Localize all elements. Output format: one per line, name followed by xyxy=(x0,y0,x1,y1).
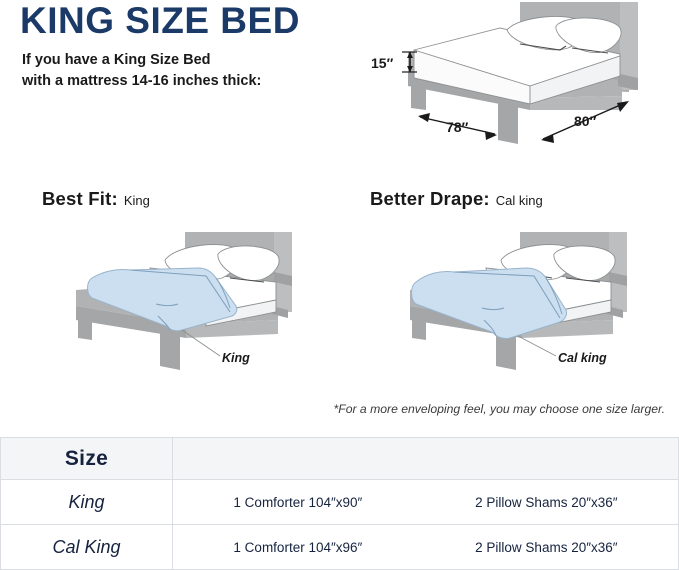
table-header-row: Size xyxy=(1,438,679,480)
width-arrow-right xyxy=(485,131,497,140)
best-fit-heading: Best Fit: King xyxy=(42,188,150,210)
footnote-text: *For a more enveloping feel, you may cho… xyxy=(334,402,666,416)
column-header-size: Size xyxy=(1,438,173,480)
headboard-side-left-bed xyxy=(274,232,292,312)
bed-label-better-drape: Cal king xyxy=(558,351,607,365)
dimension-length-label: 80″ xyxy=(574,113,597,129)
best-fit-label: Best Fit: xyxy=(42,188,118,209)
subtitle-line-2: with a mattress 14-16 inches thick: xyxy=(22,71,261,92)
best-fit-size: King xyxy=(124,193,150,208)
size-guide-page: KING SIZE BED If you have a King Size Be… xyxy=(0,0,679,567)
cell-items-king: 1 Comforter 104″x90″ 2 Pillow Shams 20″x… xyxy=(173,480,679,525)
dimension-width-label: 78″ xyxy=(446,119,469,135)
size-table: Size King 1 Comforter 104″x90″ 2 Pillow … xyxy=(0,437,679,570)
leg-front-left-bed xyxy=(160,327,180,370)
page-subtitle: If you have a King Size Bed with a mattr… xyxy=(22,50,261,92)
leg-left-left-bed xyxy=(78,312,92,340)
width-arrow-left xyxy=(418,113,430,122)
comforter-spec-cal-king: 1 Comforter 104″x96″ xyxy=(233,540,362,555)
bed-dimension-diagram: 15″ 78″ 80″ xyxy=(370,0,679,160)
bed-leg-left xyxy=(411,78,426,110)
shams-spec-cal-king: 2 Pillow Shams 20″x36″ xyxy=(475,540,617,555)
label-leader-line-right-bed xyxy=(518,336,556,356)
page-title: KING SIZE BED xyxy=(20,2,300,41)
bed-label-best-fit: King xyxy=(222,351,250,365)
table-row: Cal King 1 Comforter 104″x96″ 2 Pillow S… xyxy=(1,525,679,570)
better-drape-size: Cal king xyxy=(496,193,543,208)
bed-illustration-best-fit: King xyxy=(30,220,330,395)
cell-size-cal-king: Cal King xyxy=(1,525,173,570)
leg-left-right-bed xyxy=(412,312,426,340)
table-row: King 1 Comforter 104″x90″ 2 Pillow Shams… xyxy=(1,480,679,525)
shams-spec-king: 2 Pillow Shams 20″x36″ xyxy=(475,495,617,510)
bed-illustration-better-drape: Cal king xyxy=(370,220,670,395)
cell-size-king: King xyxy=(1,480,173,525)
subtitle-line-1: If you have a King Size Bed xyxy=(22,50,261,71)
cell-items-cal-king: 1 Comforter 104″x96″ 2 Pillow Shams 20″x… xyxy=(173,525,679,570)
column-header-items xyxy=(173,438,679,480)
better-drape-label: Better Drape: xyxy=(370,188,490,209)
bed-leg-front xyxy=(498,98,518,144)
better-drape-heading: Better Drape: Cal king xyxy=(370,188,543,210)
dimension-height-label: 15″ xyxy=(371,55,394,71)
comforter-spec-king: 1 Comforter 104″x90″ xyxy=(233,495,362,510)
headboard-side-right-bed xyxy=(609,232,627,312)
